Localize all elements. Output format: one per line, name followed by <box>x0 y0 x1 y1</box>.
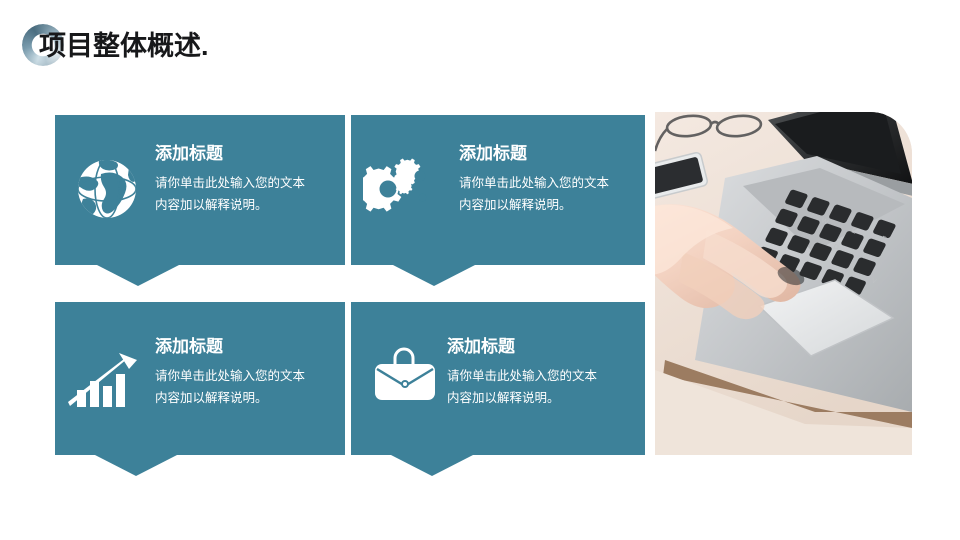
slide-header: 项目整体概述. <box>0 0 960 100</box>
gears-icon <box>363 157 445 219</box>
info-card-1[interactable]: 添加标题 请你单击此处输入您的文本 内容加以解释说明。 <box>55 115 345 265</box>
briefcase-icon <box>369 344 445 406</box>
page-title: 项目整体概述. <box>39 26 209 66</box>
card-tail-4 <box>391 455 473 476</box>
card-title: 添加标题 <box>155 144 223 164</box>
card-tail-1 <box>97 265 179 286</box>
card-title: 添加标题 <box>447 337 515 357</box>
card-title: 添加标题 <box>459 144 527 164</box>
card-body: 请你单击此处输入您的文本 内容加以解释说明。 <box>155 172 335 216</box>
hand-typing-on-laptop-photo: W E R D F C V <box>655 112 912 455</box>
info-card-3[interactable]: 添加标题 请你单击此处输入您的文本 内容加以解释说明。 <box>55 302 345 455</box>
globe-icon <box>73 155 141 223</box>
info-card-4[interactable]: 添加标题 请你单击此处输入您的文本 内容加以解释说明。 <box>351 302 645 455</box>
card-body-line-2: 内容加以解释说明。 <box>447 387 627 409</box>
card-tail-3 <box>95 455 177 476</box>
growth-chart-icon <box>67 350 149 412</box>
slide-canvas: 项目整体概述. 添加标题 请你单击此处输入您的文本 内容加以解释说明。 <box>0 0 960 540</box>
card-body-line-1: 请你单击此处输入您的文本 <box>155 365 335 387</box>
card-body-line-2: 内容加以解释说明。 <box>155 194 335 216</box>
card-tail-2 <box>393 265 475 286</box>
card-body-line-2: 内容加以解释说明。 <box>459 194 639 216</box>
card-body-line-1: 请你单击此处输入您的文本 <box>447 365 627 387</box>
card-body: 请你单击此处输入您的文本 内容加以解释说明。 <box>459 172 639 216</box>
card-body: 请你单击此处输入您的文本 内容加以解释说明。 <box>155 365 335 409</box>
info-card-2[interactable]: 添加标题 请你单击此处输入您的文本 内容加以解释说明。 <box>351 115 645 265</box>
card-body-line-2: 内容加以解释说明。 <box>155 387 335 409</box>
card-body: 请你单击此处输入您的文本 内容加以解释说明。 <box>447 365 627 409</box>
card-title: 添加标题 <box>155 337 223 357</box>
card-body-line-1: 请你单击此处输入您的文本 <box>155 172 335 194</box>
card-body-line-1: 请你单击此处输入您的文本 <box>459 172 639 194</box>
